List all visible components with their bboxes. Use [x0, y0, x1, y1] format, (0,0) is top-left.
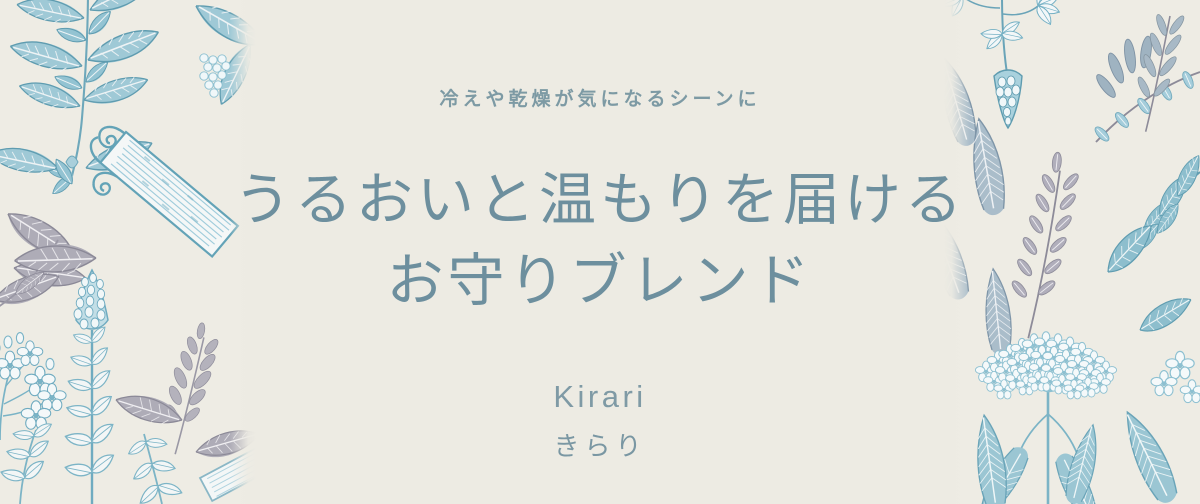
botanical-illustration-right: [944, 0, 1200, 504]
brand-name-kana: きらり: [553, 434, 646, 460]
brand-lockup: Kirari きらり: [553, 381, 646, 460]
banner-eyebrow: 冷えや乾燥が気になるシーンに: [439, 88, 760, 113]
headline-line-1: うるおいと温もりを届ける: [234, 161, 966, 242]
banner-content: 冷えや乾燥が気になるシーンに うるおいと温もりを届ける お守りブレンド Kira…: [256, 0, 944, 504]
promotional-banner: 冷えや乾燥が気になるシーンに うるおいと温もりを届ける お守りブレンド Kira…: [0, 0, 1200, 504]
headline-line-2: お守りブレンド: [234, 242, 966, 323]
botanical-illustration-left: [0, 0, 256, 504]
banner-headline: うるおいと温もりを届ける お守りブレンド: [234, 161, 966, 323]
brand-name-latin: Kirari: [553, 381, 646, 412]
